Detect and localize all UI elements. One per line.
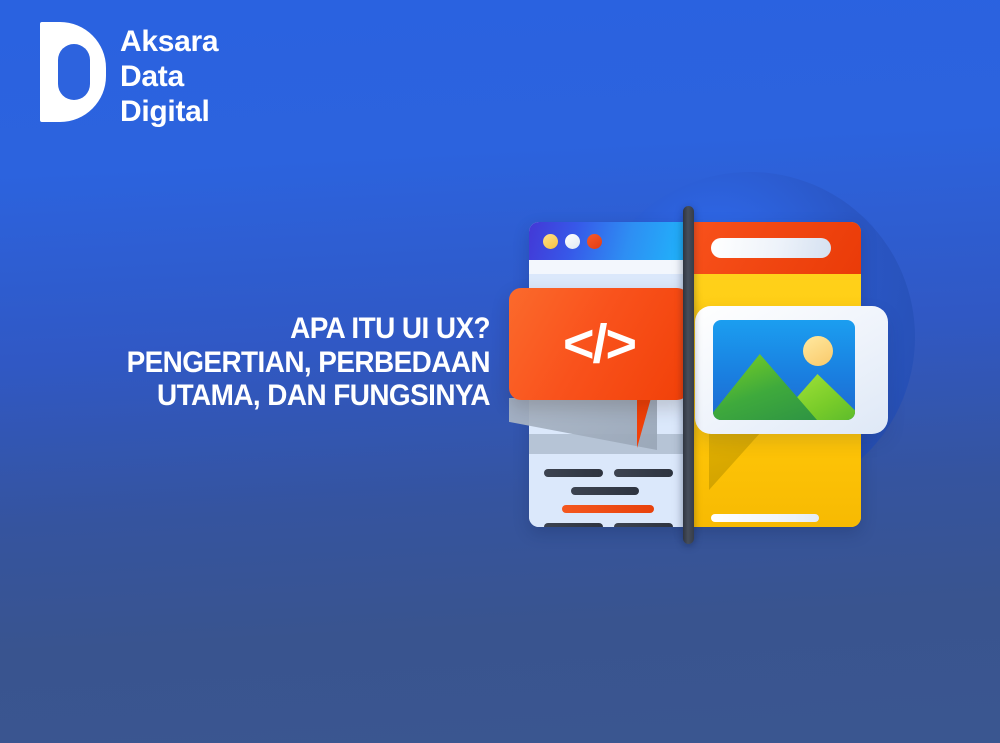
text-bar	[711, 514, 819, 522]
page-title: APA ITU UI UX? PENGERTIAN, PERBEDAAN UTA…	[60, 312, 490, 413]
text-line-row	[544, 523, 674, 527]
brand-logo[interactable]: Aksara Data Digital	[40, 22, 218, 129]
split-divider	[683, 206, 694, 544]
code-bubble: </>	[509, 288, 689, 400]
text-bar	[614, 469, 673, 477]
headline-line-3: UTAMA, DAN FUNGSINYA	[90, 379, 490, 413]
browser-title-bar	[529, 222, 687, 260]
text-bar-highlight	[562, 505, 654, 513]
headline-line-1: APA ITU UI UX?	[90, 312, 490, 346]
poster-canvas: Aksara Data Digital APA ITU UI UX? PENGE…	[0, 0, 1000, 743]
text-bar	[544, 469, 603, 477]
window-dot-yellow-icon	[543, 234, 558, 249]
brand-line-1: Aksara	[120, 24, 218, 59]
headline-line-2: PENGERTIAN, PERBEDAAN	[90, 346, 490, 380]
text-bar	[544, 523, 603, 527]
code-bubble-tail	[637, 398, 665, 448]
sun-icon	[803, 336, 833, 366]
code-brackets-icon: </>	[509, 288, 689, 400]
content-header-bar	[687, 222, 861, 274]
search-input[interactable]	[711, 238, 831, 258]
brand-name: Aksara Data Digital	[120, 22, 218, 129]
brand-line-2: Data	[120, 59, 218, 94]
text-bar	[571, 487, 639, 495]
window-dot-red-icon	[587, 234, 602, 249]
ui-ux-illustration: </>	[495, 160, 915, 560]
browser-sub-bar	[529, 260, 687, 274]
mountain-front-icon	[713, 354, 817, 420]
window-dot-white-icon	[565, 234, 580, 249]
code-text-lines	[544, 469, 674, 527]
text-line-row	[544, 469, 674, 477]
content-text-lines	[711, 514, 831, 527]
aksara-d-mark-icon	[40, 22, 106, 122]
brand-line-3: Digital	[120, 94, 218, 129]
image-bubble	[695, 306, 888, 434]
text-bar	[614, 523, 673, 527]
image-thumbnail-icon	[713, 320, 855, 420]
